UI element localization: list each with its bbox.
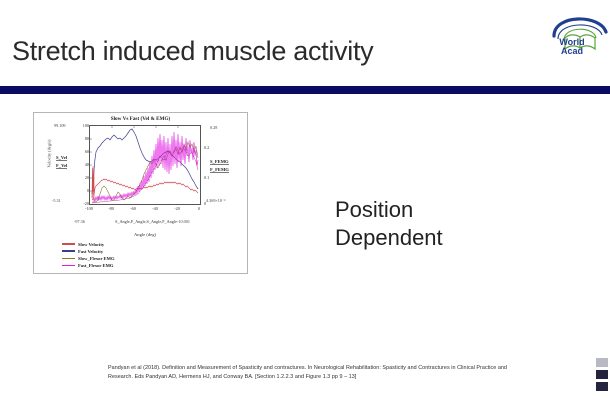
chart-title: Slow Vs Fast (Vel & EMG) [34, 116, 247, 122]
logo-wordmark: World Acad [536, 38, 608, 57]
legend-item-slow-velocity: Slow Velocity [62, 241, 115, 247]
left-axis-var-1: F_Vel [56, 163, 67, 168]
legend-label: Fast_Flexor EMG [78, 263, 114, 268]
left-axis-var-0: S_Vel [56, 155, 67, 160]
legend-item-slow-flexor-emg: Slow_Flexor EMG [62, 255, 115, 261]
corner-thumbnail-item[interactable] [596, 358, 608, 367]
right-axis-var-0: S_FEMG [210, 159, 229, 164]
y-tick-left-3: 40 [73, 162, 89, 167]
legend-item-fast-flexor-emg: Fast_Flexor EMG [62, 263, 115, 269]
x-tick-4: -20 [168, 206, 186, 211]
legend-swatch-icon [62, 258, 75, 260]
legend-item-fast-velocity: Fast Velocity [62, 248, 115, 254]
corner-thumbnail-strip[interactable] [596, 358, 610, 400]
y-tick-left-4: 20 [73, 175, 89, 180]
chart-y-axis-label: Velocity (deg/s) [47, 130, 52, 178]
legend-label: Slow_Flexor EMG [78, 256, 115, 261]
callout-text: Position Dependent [335, 196, 443, 252]
chart-plot-area [89, 125, 201, 205]
limit-y-left-max: 99.109 [54, 123, 66, 128]
y-tick-left-5: 0 [73, 188, 89, 193]
y-tick-left-2: 60 [73, 149, 89, 154]
x-tick-0: -100 [80, 206, 98, 211]
figure-panel: Slow Vs Fast (Vel & EMG) Velocity (deg/s… [33, 112, 248, 274]
legend-swatch-icon [62, 250, 75, 252]
limit-y-left-min: -5.31 [52, 198, 61, 203]
y-tick-right-0: 0.2 [204, 145, 226, 150]
limit-x-min: -97.36 [74, 219, 85, 224]
callout-line-2: Dependent [335, 224, 443, 252]
callout-line-1: Position [335, 196, 443, 224]
x-tick-2: -60 [124, 206, 142, 211]
limit-y-right-min: 4.369×10⁻³ [206, 198, 225, 203]
logo-wordmark-line2: Acad [536, 47, 608, 56]
legend-swatch-icon [62, 265, 75, 267]
legend-label: Slow Velocity [78, 242, 104, 247]
chart-x-axis-label: Angle (deg) [89, 232, 201, 237]
corner-thumbnail-item[interactable] [596, 382, 608, 391]
title-divider [0, 86, 610, 94]
page-title: Stretch induced muscle activity [12, 36, 373, 67]
right-axis-var-1: F_FEMG [210, 167, 229, 172]
legend-swatch-icon [62, 243, 75, 245]
limit-y-right-max: 0.28 [210, 125, 217, 130]
y-tick-left-1: 80 [73, 136, 89, 141]
x-tick-1: -80 [102, 206, 120, 211]
corner-thumbnail-item[interactable] [596, 370, 608, 379]
x-tick-3: -40 [146, 206, 164, 211]
y-tick-right-1: 0.1 [204, 175, 226, 180]
citation-text: Pandyan et al (2018). Definition and Mea… [108, 364, 533, 382]
chart-legend: Slow Velocity Fast Velocity Slow_Flexor … [62, 241, 115, 269]
x-tick-5: 0 [190, 206, 208, 211]
x-axis-vars: S_Angle,F_Angle,S_Angle,F_Angle [91, 219, 201, 224]
legend-label: Fast Velocity [78, 249, 103, 254]
y-tick-left-0: 100 [73, 123, 89, 128]
